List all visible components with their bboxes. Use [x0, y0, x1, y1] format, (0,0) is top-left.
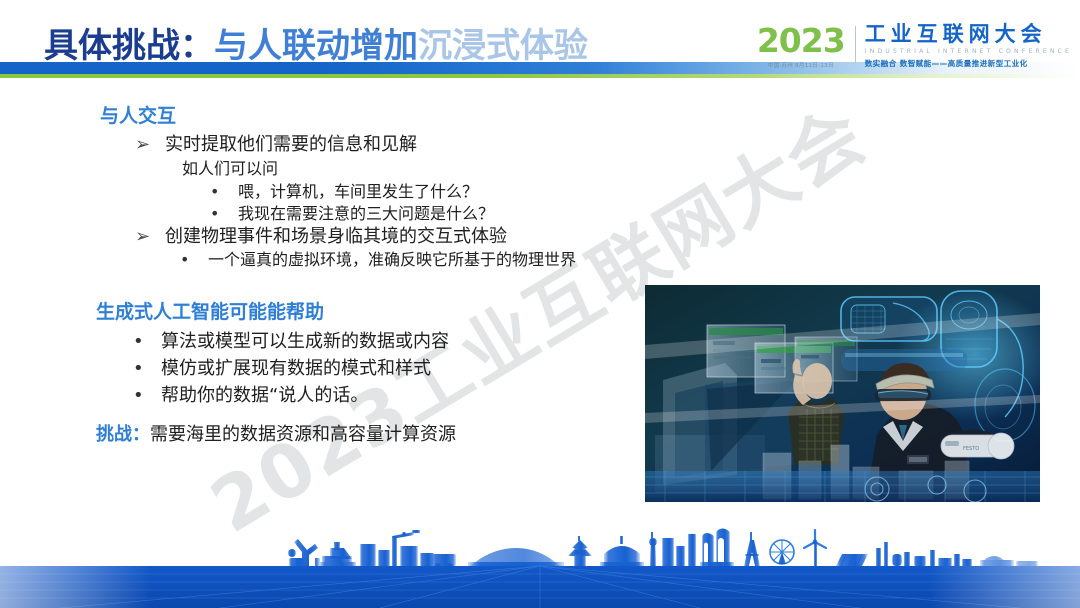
bullet-arrow-1-text: 实时提取他们需要的信息和见解 [165, 134, 417, 155]
logo-name-en: INDUSTRIAL INTERNET CONFERENCE [865, 48, 1072, 55]
bullet-plain-1: 如人们可以问 [182, 155, 278, 179]
challenge-text: 需要海里的数据资源和高容量计算资源 [150, 424, 456, 445]
arrow-bullet-icon: ➢ [135, 226, 165, 247]
logo-tagline: 数实融合 数智赋能——高质量推进新型工业化 [865, 58, 1072, 69]
logo-name-cn: 工业互联网大会 [865, 24, 1072, 45]
photo-graphic: FESTO [645, 285, 1040, 502]
title-segment-secondary: 与人联动增加 [214, 26, 418, 66]
title-segment-tertiary: 沉浸式体验 [418, 26, 588, 66]
dot-bullet-icon: • [133, 331, 161, 352]
genai-bullet-3: •帮助你的数据“说人的话。 [133, 381, 368, 407]
logo-date: 中国·苏州 9月11日-13日 [768, 61, 834, 69]
bullet-dot-2-text: 我现在需要注意的三大问题是什么？ [238, 204, 494, 223]
svg-text:FESTO: FESTO [963, 446, 979, 452]
slide-canvas: 2023工业互联网大会 具体挑战：与人联动增加沉浸式体验 2023 中国·苏州 … [0, 0, 1080, 608]
logo-year: 2023 [757, 24, 845, 57]
section-heading-interaction: 与人交互 [100, 101, 176, 128]
logo-name-block: 工业互联网大会 INDUSTRIAL INTERNET CONFERENCE 数… [865, 24, 1072, 69]
section-heading-genai: 生成式人工智能可能能帮助 [96, 297, 324, 324]
bullet-dot-3: •一个逼真的虚拟环境，准确反映它所基于的物理世界 [180, 246, 576, 270]
logo-divider [855, 26, 856, 65]
title-segment-primary: 具体挑战： [44, 26, 214, 66]
bullet-arrow-2-text: 创建物理事件和场景身临其境的交互式体验 [165, 226, 507, 247]
dot-bullet-icon: • [210, 182, 238, 201]
dot-bullet-icon: • [133, 358, 161, 379]
illustration-photo: FESTO [645, 285, 1040, 502]
genai-bullet-1-text: 算法或模型可以生成新的数据或内容 [161, 331, 449, 352]
genai-bullet-3-text: 帮助你的数据“说人的话。 [161, 385, 368, 406]
logo-year-block: 2023 中国·苏州 9月11日-13日 [757, 24, 855, 69]
genai-bullet-1: •算法或模型可以生成新的数据或内容 [133, 327, 449, 353]
challenge-line: 挑战：需要海里的数据资源和高容量计算资源 [96, 420, 456, 446]
dot-bullet-icon: • [133, 385, 161, 406]
bullet-arrow-2: ➢创建物理事件和场景身临其境的交互式体验 [135, 222, 507, 248]
bullet-dot-2: •我现在需要注意的三大问题是什么？ [210, 200, 494, 224]
dot-bullet-icon: • [210, 204, 238, 223]
genai-bullet-2-text: 模仿或扩展现有数据的模式和样式 [161, 358, 431, 379]
page-title: 具体挑战：与人联动增加沉浸式体验 [44, 18, 588, 67]
bullet-dot-1-text: 喂，计算机，车间里发生了什么？ [238, 182, 478, 201]
arrow-bullet-icon: ➢ [135, 134, 165, 155]
bullet-dot-1: •喂，计算机，车间里发生了什么？ [210, 178, 478, 202]
bullet-dot-3-text: 一个逼真的虚拟环境，准确反映它所基于的物理世界 [208, 250, 576, 269]
conference-logo: 2023 中国·苏州 9月11日-13日 工业互联网大会 INDUSTRIAL … [757, 24, 1072, 69]
dot-bullet-icon: • [180, 250, 208, 269]
genai-bullet-2: •模仿或扩展现有数据的模式和样式 [133, 354, 431, 380]
challenge-label: 挑战： [96, 424, 150, 445]
bullet-plain-1-text: 如人们可以问 [182, 159, 278, 178]
bullet-arrow-1: ➢实时提取他们需要的信息和见解 [135, 130, 417, 156]
